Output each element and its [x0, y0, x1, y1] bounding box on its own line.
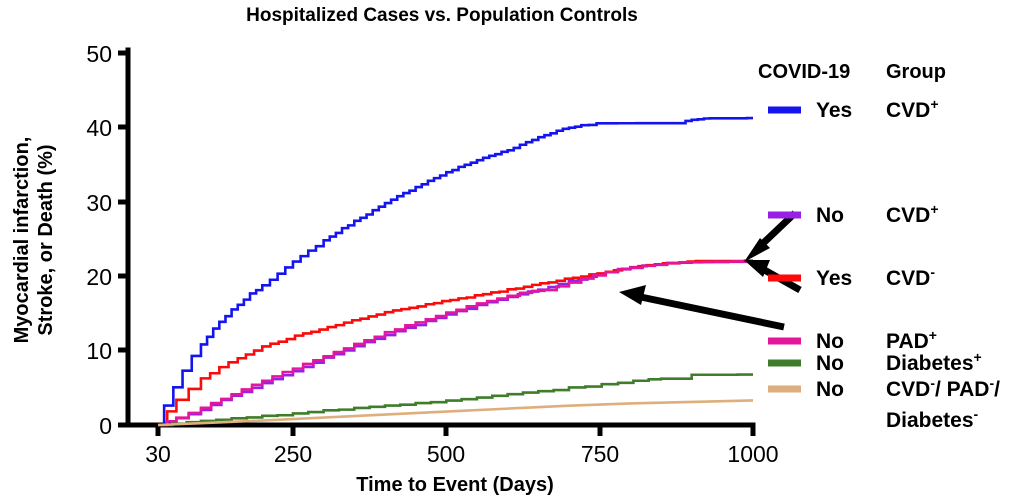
y-tick-50: 50: [86, 41, 112, 67]
legend-group-yes-cvd-: CVD+: [886, 96, 939, 122]
legend-covid-no-cvd-: No: [816, 378, 844, 401]
x-axis-title: Time to Event (Days): [356, 474, 553, 496]
legend-group-no-pad-: PAD+: [886, 327, 937, 353]
legend-group-no-diabetes-: Diabetes+: [886, 349, 982, 375]
legend-header-group: Group: [886, 61, 946, 83]
legend-group-no-cvd-: CVD-/ PAD-/: [886, 375, 1000, 401]
callout-arrow-no-pad-plus: [619, 285, 784, 327]
y-tick-40: 40: [86, 115, 112, 141]
svg-text:Stroke, or Death (%): Stroke, or Death (%): [35, 144, 57, 335]
axis-lines: [128, 50, 753, 425]
x-tick-250: 250: [274, 441, 312, 467]
legend-group-line2-diabetes-minus: Diabetes-: [886, 406, 979, 432]
y-axis-ticks: 50 40 30 20 10 0: [86, 41, 128, 439]
y-tick-20: 20: [86, 264, 112, 290]
legend-covid-no-pad-: No: [816, 330, 844, 353]
legend: COVID-19 Group YesCVD+NoCVD+YesCVD-NoPAD…: [758, 61, 1000, 432]
page-title: Hospitalized Cases vs. Population Contro…: [246, 5, 638, 26]
legend-covid-no-diabetes-: No: [816, 352, 844, 375]
legend-group-no-cvd-: CVD+: [886, 201, 939, 227]
y-tick-10: 10: [86, 338, 112, 364]
legend-header-covid: COVID-19: [758, 61, 850, 83]
kaplan-meier-chart: Hospitalized Cases vs. Population Contro…: [0, 0, 1020, 500]
x-tick-750: 750: [581, 441, 619, 467]
x-tick-30: 30: [145, 441, 171, 467]
series-no-diabetes: [158, 375, 753, 425]
legend-covid-no-cvd-: No: [816, 204, 844, 227]
series-no-cvd-pad-diabetes: [158, 400, 753, 425]
callout-arrow-no-cvd-plus: [744, 213, 795, 262]
legend-covid-yes-cvd-: Yes: [816, 99, 852, 122]
legend-group-yes-cvd-: CVD-: [886, 264, 935, 290]
x-axis-ticks: 30 250 500 750 1000: [145, 425, 778, 467]
series-lines: [158, 118, 753, 425]
y-tick-0: 0: [99, 413, 112, 439]
y-axis-title: Myocardial infarction, Stroke, or Death …: [11, 137, 57, 344]
svg-text:Myocardial infarction,: Myocardial infarction,: [11, 137, 33, 344]
x-tick-500: 500: [427, 441, 465, 467]
x-tick-1000: 1000: [727, 441, 778, 467]
legend-covid-yes-cvd-: Yes: [816, 267, 852, 290]
y-tick-30: 30: [86, 190, 112, 216]
